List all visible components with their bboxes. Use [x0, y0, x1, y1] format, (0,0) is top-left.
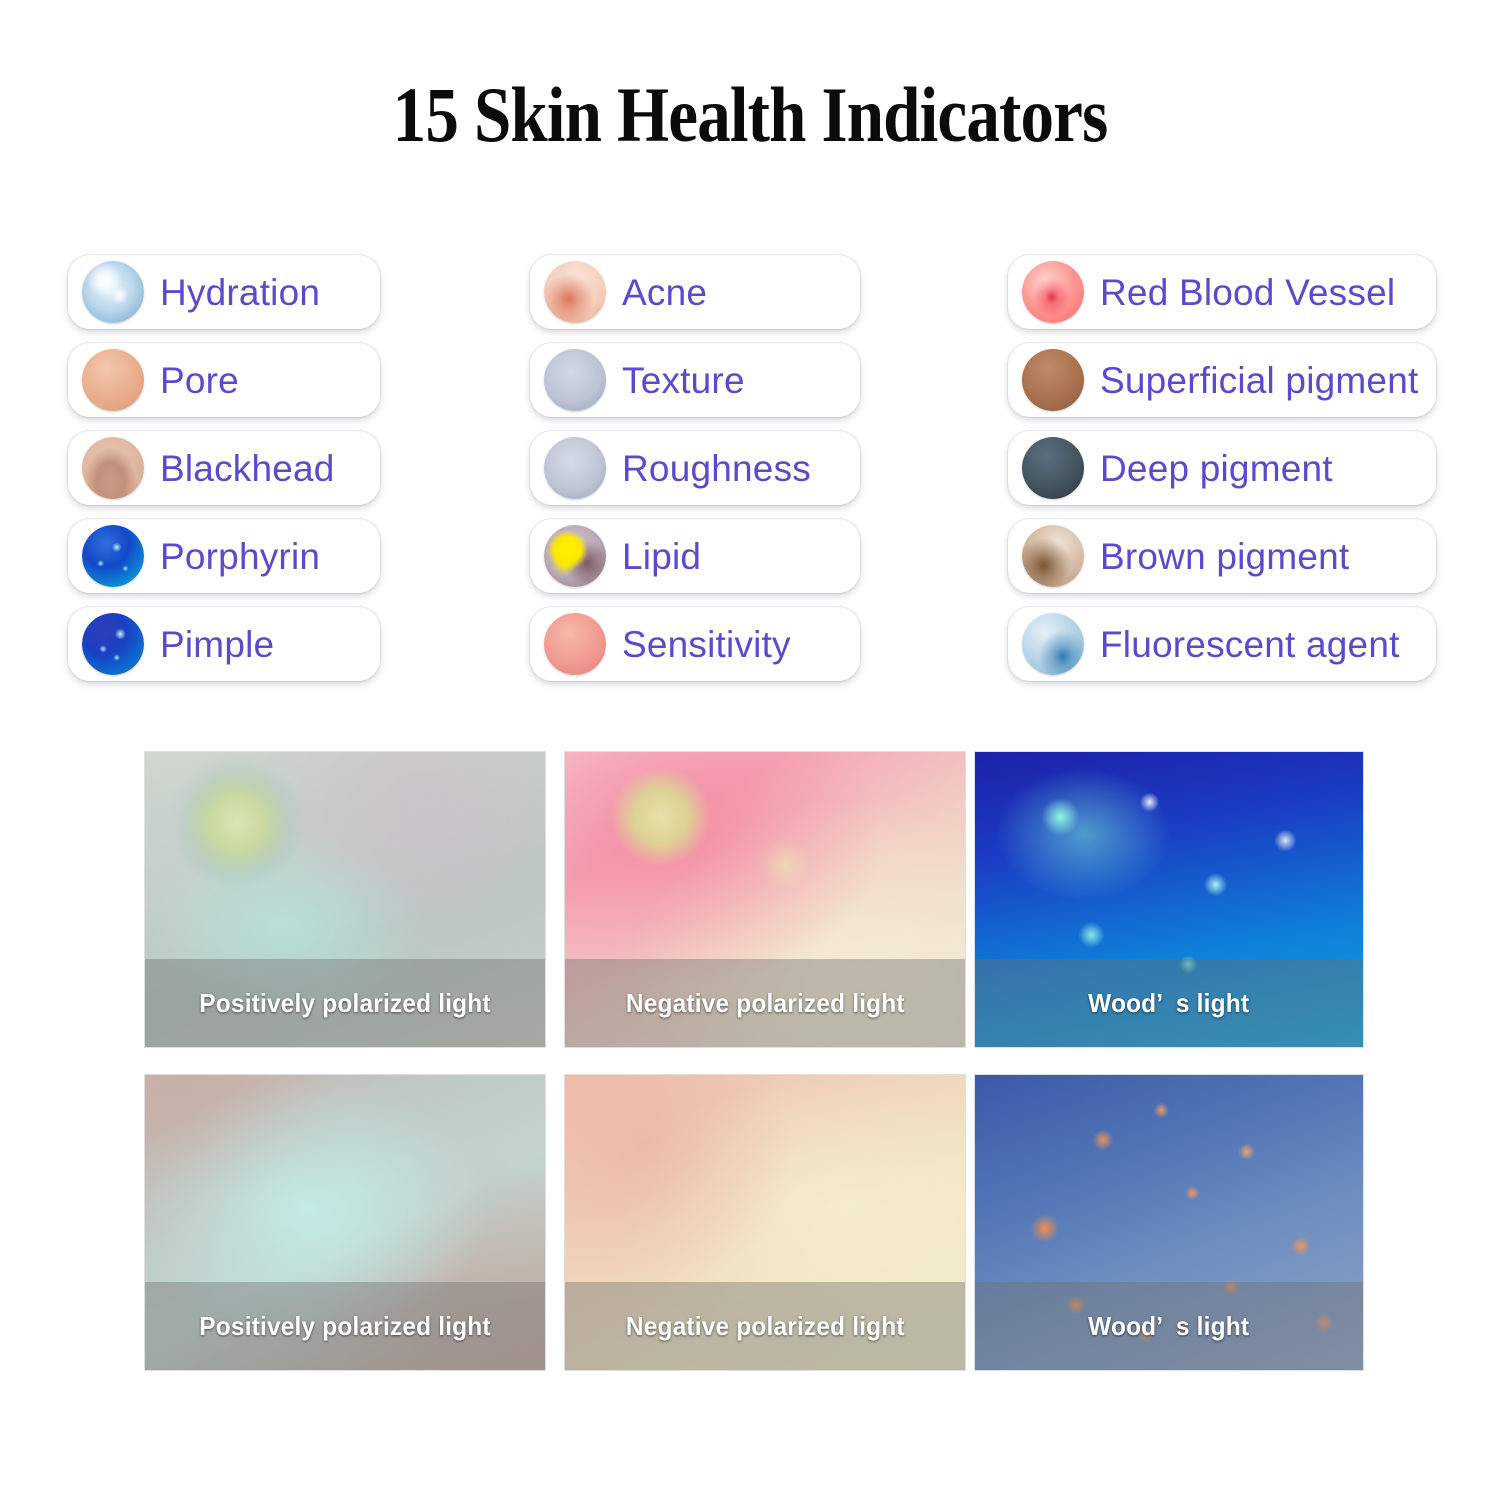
- indicator-item-roughness[interactable]: Roughness: [530, 431, 860, 505]
- indicator-label: Roughness: [622, 450, 811, 487]
- photo-caption: Negative polarized light: [626, 988, 905, 1019]
- photo-pore-positive-polarized[interactable]: Positively polarized light: [145, 1075, 545, 1370]
- indicator-item-blackhead[interactable]: Blackhead: [68, 431, 380, 505]
- indicator-column-3: Red Blood Vessel Superficial pigment Dee…: [1008, 255, 1436, 695]
- blackhead-thumb-icon: [82, 437, 144, 499]
- indicator-item-red-blood-vessel[interactable]: Red Blood Vessel: [1008, 255, 1436, 329]
- indicator-item-pimple[interactable]: Pimple: [68, 607, 380, 681]
- indicator-label: Pore: [160, 362, 239, 399]
- caption-overlay: Negative polarized light: [565, 959, 965, 1047]
- page-title: 15 Skin Health Indicators: [105, 70, 1395, 160]
- indicator-label: Porphyrin: [160, 538, 320, 575]
- photo-caption: Wood’ s light: [1088, 1311, 1249, 1342]
- roughness-thumb-icon: [544, 437, 606, 499]
- indicator-label: Pimple: [160, 626, 274, 663]
- photo-acne-negative-polarized[interactable]: Negative polarized light: [565, 752, 965, 1047]
- indicator-label: Red Blood Vessel: [1100, 274, 1395, 311]
- lipid-thumb-icon: [544, 525, 606, 587]
- acne-thumb-icon: [544, 261, 606, 323]
- indicator-label: Texture: [622, 362, 745, 399]
- indicator-label: Hydration: [160, 274, 320, 311]
- indicator-label: Sensitivity: [622, 626, 791, 663]
- photo-pore-negative-polarized[interactable]: Negative polarized light: [565, 1075, 965, 1370]
- photo-caption: Positively polarized light: [199, 1311, 490, 1342]
- indicator-item-lipid[interactable]: Lipid: [530, 519, 860, 593]
- indicator-label: Blackhead: [160, 450, 335, 487]
- photo-acne-woods-light[interactable]: Wood’ s light: [975, 752, 1363, 1047]
- indicator-label: Fluorescent agent: [1100, 626, 1400, 663]
- photo-caption: Negative polarized light: [626, 1311, 905, 1342]
- caption-overlay: Wood’ s light: [975, 959, 1363, 1047]
- photo-row-acne-lesion: Positively polarized light Negative pola…: [145, 752, 1361, 1047]
- caption-overlay: Negative polarized light: [565, 1282, 965, 1370]
- indicator-label: Lipid: [622, 538, 701, 575]
- indicator-label: Brown pigment: [1100, 538, 1349, 575]
- pimple-thumb-icon: [82, 613, 144, 675]
- sensitivity-thumb-icon: [544, 613, 606, 675]
- pore-thumb-icon: [82, 349, 144, 411]
- indicator-item-deep-pigment[interactable]: Deep pigment: [1008, 431, 1436, 505]
- photo-caption: Positively polarized light: [199, 988, 490, 1019]
- indicator-column-2: Acne Texture Roughness Lipid Sensitivity: [530, 255, 860, 695]
- caption-overlay: Wood’ s light: [975, 1282, 1363, 1370]
- indicator-label: Superficial pigment: [1100, 362, 1418, 399]
- indicator-label: Deep pigment: [1100, 450, 1333, 487]
- indicator-item-brown-pigment[interactable]: Brown pigment: [1008, 519, 1436, 593]
- indicator-item-porphyrin[interactable]: Porphyrin: [68, 519, 380, 593]
- indicator-item-texture[interactable]: Texture: [530, 343, 860, 417]
- photo-caption: Wood’ s light: [1088, 988, 1249, 1019]
- indicator-list: Hydration Pore Blackhead Porphyrin Pimpl…: [0, 255, 1500, 715]
- photo-row-pore-blackhead: Positively polarized light Negative pola…: [145, 1075, 1361, 1370]
- superficial-pigment-thumb-icon: [1022, 349, 1084, 411]
- indicator-item-sensitivity[interactable]: Sensitivity: [530, 607, 860, 681]
- caption-overlay: Positively polarized light: [145, 959, 545, 1047]
- indicator-label: Acne: [622, 274, 707, 311]
- deep-pigment-thumb-icon: [1022, 437, 1084, 499]
- indicator-item-pore[interactable]: Pore: [68, 343, 380, 417]
- photo-acne-positive-polarized[interactable]: Positively polarized light: [145, 752, 545, 1047]
- brown-pigment-thumb-icon: [1022, 525, 1084, 587]
- indicator-item-superficial-pigment[interactable]: Superficial pigment: [1008, 343, 1436, 417]
- indicator-item-hydration[interactable]: Hydration: [68, 255, 380, 329]
- porphyrin-thumb-icon: [82, 525, 144, 587]
- indicator-item-fluorescent-agent[interactable]: Fluorescent agent: [1008, 607, 1436, 681]
- photo-pore-woods-light[interactable]: Wood’ s light: [975, 1075, 1363, 1370]
- fluorescent-agent-thumb-icon: [1022, 613, 1084, 675]
- texture-thumb-icon: [544, 349, 606, 411]
- caption-overlay: Positively polarized light: [145, 1282, 545, 1370]
- sample-photo-grid: Positively polarized light Negative pola…: [145, 752, 1361, 1370]
- indicator-column-1: Hydration Pore Blackhead Porphyrin Pimpl…: [68, 255, 380, 695]
- hydration-thumb-icon: [82, 261, 144, 323]
- indicator-item-acne[interactable]: Acne: [530, 255, 860, 329]
- red-blood-vessel-thumb-icon: [1022, 261, 1084, 323]
